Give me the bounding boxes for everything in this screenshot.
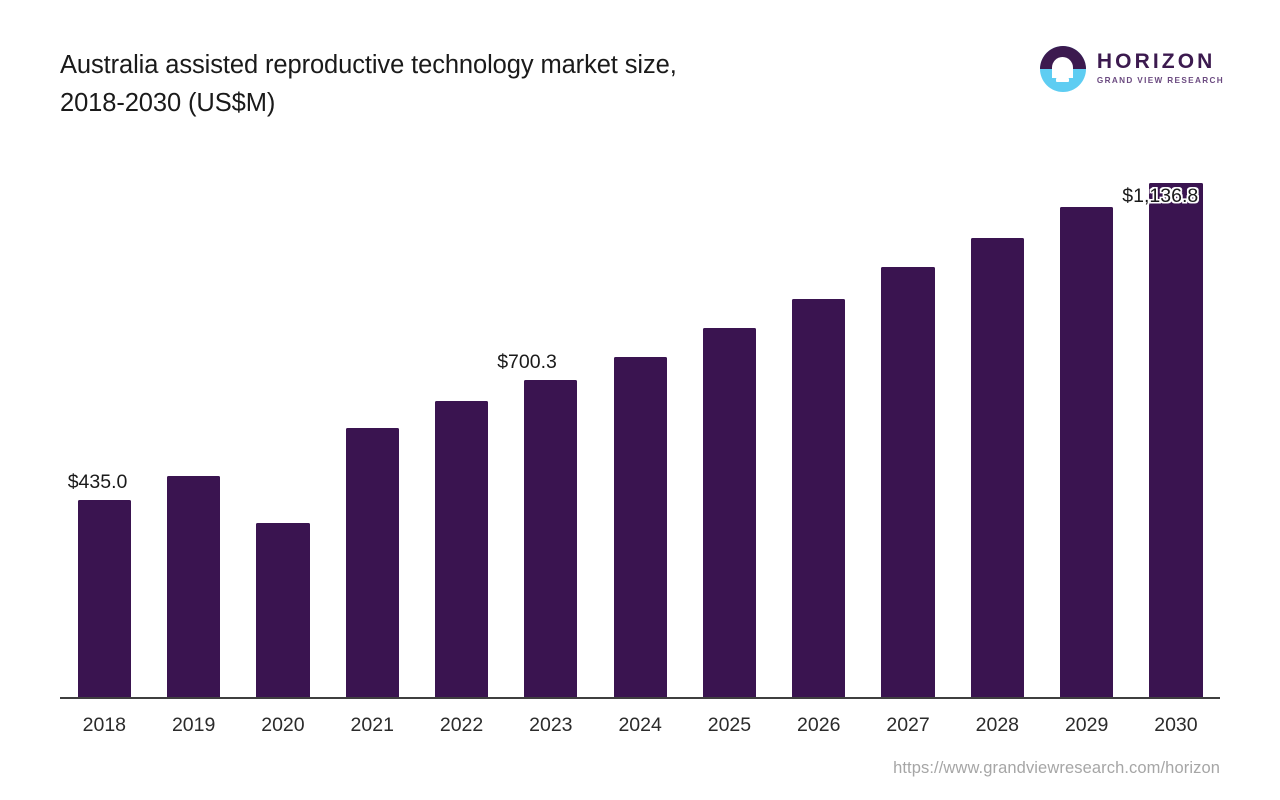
- bar-2026[interactable]: [792, 299, 845, 697]
- source-url: https://www.grandviewresearch.com/horizo…: [893, 759, 1220, 778]
- bar-2025[interactable]: [703, 328, 756, 697]
- x-tick-2029: 2029: [1042, 713, 1132, 737]
- bar-2030[interactable]: [1149, 183, 1202, 697]
- x-tick-2024: 2024: [595, 713, 685, 737]
- bar-value-label-2018: $435.0: [68, 471, 128, 493]
- x-tick-2020: 2020: [238, 713, 328, 737]
- bar-2029[interactable]: [1060, 207, 1113, 697]
- x-tick-2019: 2019: [149, 713, 239, 737]
- x-axis-line: [60, 697, 1220, 699]
- x-tick-2028: 2028: [952, 713, 1042, 737]
- bar-2021[interactable]: [346, 428, 399, 697]
- x-tick-2022: 2022: [417, 713, 507, 737]
- chart-page: Australia assisted reproductive technolo…: [0, 0, 1280, 800]
- x-tick-2021: 2021: [327, 713, 417, 737]
- bar-2028[interactable]: [971, 238, 1024, 697]
- x-tick-2018: 2018: [59, 713, 149, 737]
- bar-value-label-2023: $700.3: [497, 351, 557, 373]
- x-tick-2023: 2023: [506, 713, 596, 737]
- bar-2027[interactable]: [881, 267, 934, 697]
- bar-2019[interactable]: [167, 476, 220, 697]
- x-tick-2025: 2025: [684, 713, 774, 737]
- bar-2020[interactable]: [256, 523, 309, 697]
- x-tick-2030: 2030: [1131, 713, 1221, 737]
- x-tick-2026: 2026: [774, 713, 864, 737]
- bar-2023[interactable]: [524, 380, 577, 697]
- x-tick-2027: 2027: [863, 713, 953, 737]
- bar-2022[interactable]: [435, 401, 488, 697]
- bar-2024[interactable]: [614, 357, 667, 697]
- bar-chart-plot: 2018201920202021202220232024202520262027…: [0, 0, 1280, 800]
- bar-2018[interactable]: [78, 500, 131, 697]
- bar-value-label-2030: $1,136.8: [1122, 185, 1198, 207]
